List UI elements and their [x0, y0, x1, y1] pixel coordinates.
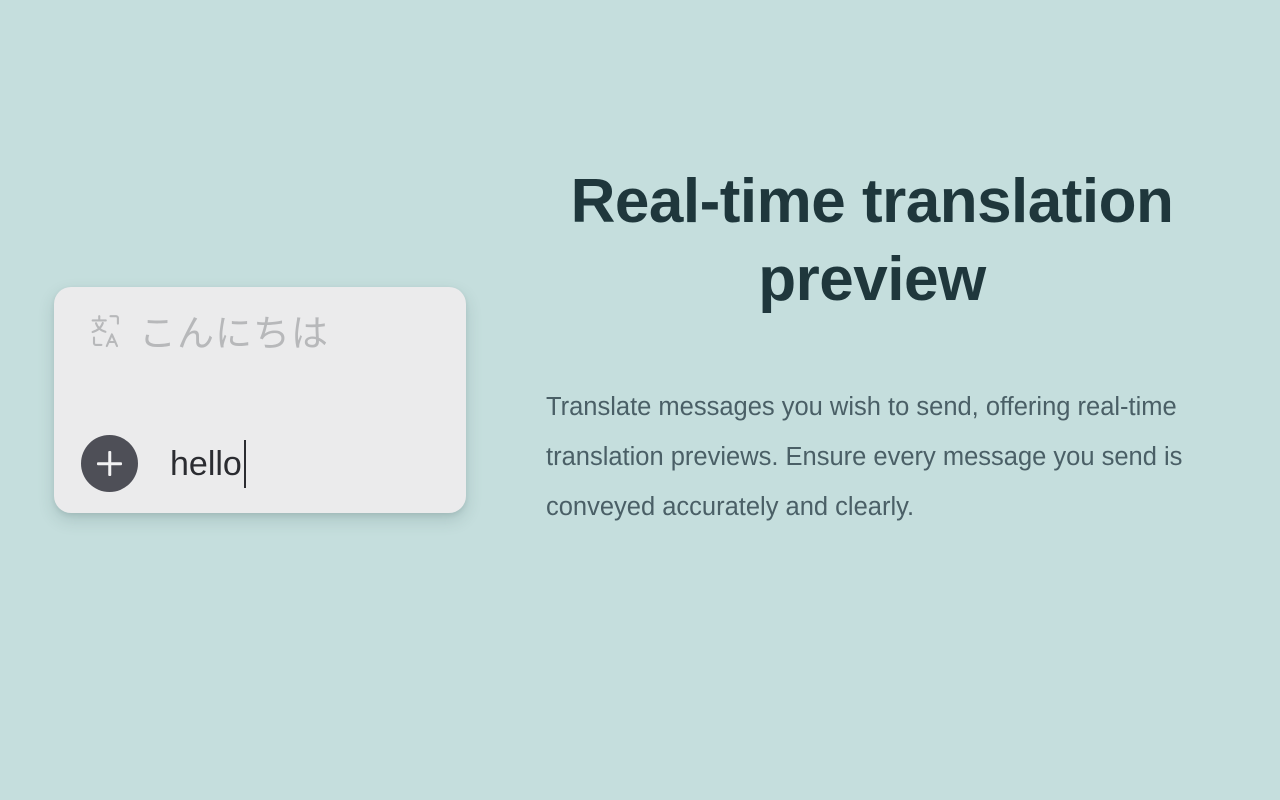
translation-preview-card: こんにちは hello [54, 287, 466, 513]
translation-preview-row: こんにちは [88, 313, 329, 353]
page-title: Real-time translation preview [546, 163, 1198, 319]
compose-row: hello [81, 435, 246, 492]
message-input[interactable]: hello [170, 435, 246, 492]
card-column: こんにちは hello [0, 0, 520, 800]
message-input-value: hello [170, 447, 242, 481]
add-attachment-button[interactable] [81, 435, 138, 492]
text-caret [244, 440, 247, 488]
page-description: Translate messages you wish to send, off… [546, 382, 1201, 532]
copy-column: Real-time translation preview Translate … [546, 0, 1198, 800]
translate-icon [88, 313, 124, 353]
translated-preview-text: こんにちは [139, 315, 329, 352]
feature-showcase: こんにちは hello Real-time translation previe… [0, 0, 1280, 800]
